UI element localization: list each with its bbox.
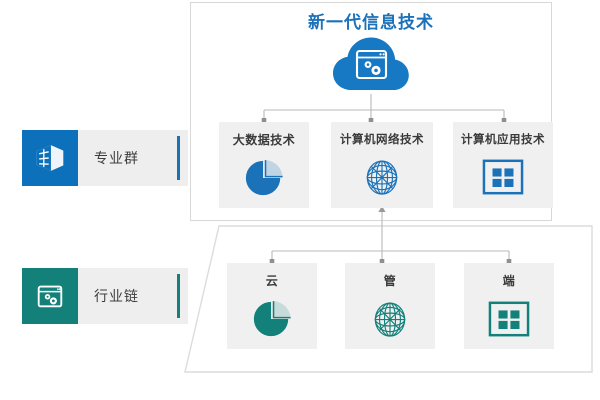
node-label: 计算机应用技术: [461, 131, 545, 147]
node-label: 端: [503, 272, 516, 289]
diagram-canvas: 新一代信息技术: [0, 0, 600, 400]
node-card-application[interactable]: 计算机应用技术: [453, 122, 553, 208]
globe-icon: [356, 153, 408, 201]
page-title: 新一代信息技术: [190, 8, 552, 33]
sidebar-item-industry-chain[interactable]: 行业链: [22, 268, 188, 324]
accent-bar: [177, 274, 180, 318]
sidebar-item-major-group[interactable]: 专业群: [22, 130, 188, 186]
node-card-endpoint[interactable]: 端: [464, 263, 554, 349]
sidebar-item-label: 行业链: [94, 286, 139, 306]
globe-icon: [364, 295, 416, 343]
window-grid-icon: [483, 295, 535, 343]
sidebar-item-label: 专业群: [94, 148, 139, 168]
pie-chart-icon: [246, 295, 298, 343]
accent-bar: [177, 136, 180, 180]
building-3d-icon: [22, 130, 78, 186]
node-label: 大数据技术: [233, 131, 296, 148]
node-label: 云: [266, 272, 279, 289]
node-label: 管: [384, 272, 397, 289]
sidebar-item-body: 专业群: [78, 130, 188, 186]
node-card-cloud[interactable]: 云: [227, 263, 317, 349]
window-grid-icon: [477, 153, 529, 201]
cloud-settings-icon: [332, 33, 410, 95]
node-card-pipe[interactable]: 管: [345, 263, 435, 349]
node-card-network[interactable]: 计算机网络技术: [331, 122, 433, 208]
node-label: 计算机网络技术: [340, 131, 424, 147]
sidebar-item-body: 行业链: [78, 268, 188, 324]
pie-chart-icon: [238, 154, 290, 202]
window-gears-icon: [22, 268, 78, 324]
node-card-bigdata[interactable]: 大数据技术: [219, 122, 309, 208]
